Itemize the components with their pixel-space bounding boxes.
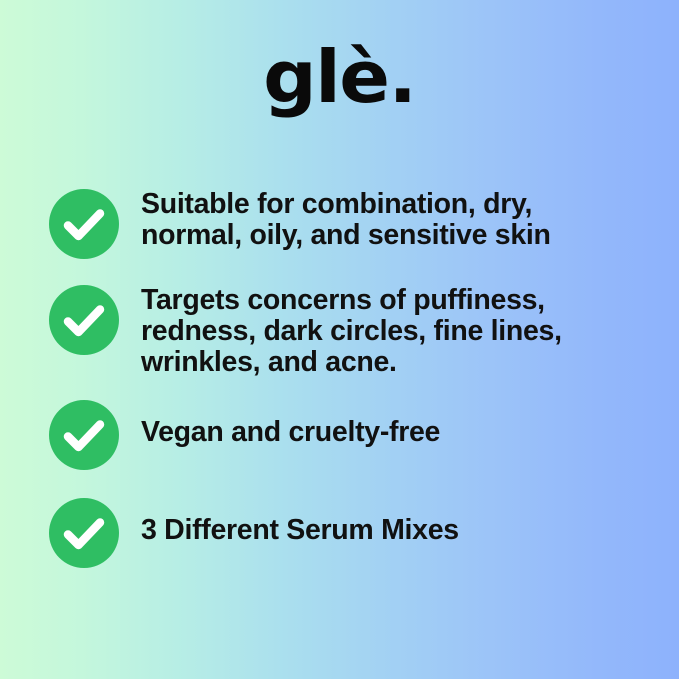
feature-text: 3 Different Serum Mixes xyxy=(141,498,649,546)
check-circle-icon xyxy=(49,189,119,259)
feature-item: Targets concerns of puffiness, redness, … xyxy=(49,281,649,378)
product-feature-graphic: glè. Suitable for combination, dry, norm… xyxy=(0,0,679,679)
feature-list: Suitable for combination, dry, normal, o… xyxy=(49,185,649,568)
feature-item: Suitable for combination, dry, normal, o… xyxy=(49,185,649,259)
check-circle-icon xyxy=(49,285,119,355)
check-circle-icon xyxy=(49,498,119,568)
brand-logo: glè. xyxy=(0,40,679,116)
feature-item: 3 Different Serum Mixes xyxy=(49,498,649,568)
feature-text: Suitable for combination, dry, normal, o… xyxy=(141,185,649,251)
check-circle-icon xyxy=(49,400,119,470)
feature-text: Targets concerns of puffiness, redness, … xyxy=(141,281,649,378)
feature-item: Vegan and cruelty-free xyxy=(49,400,649,470)
feature-text: Vegan and cruelty-free xyxy=(141,400,649,448)
brand-wordmark: glè. xyxy=(263,40,415,116)
